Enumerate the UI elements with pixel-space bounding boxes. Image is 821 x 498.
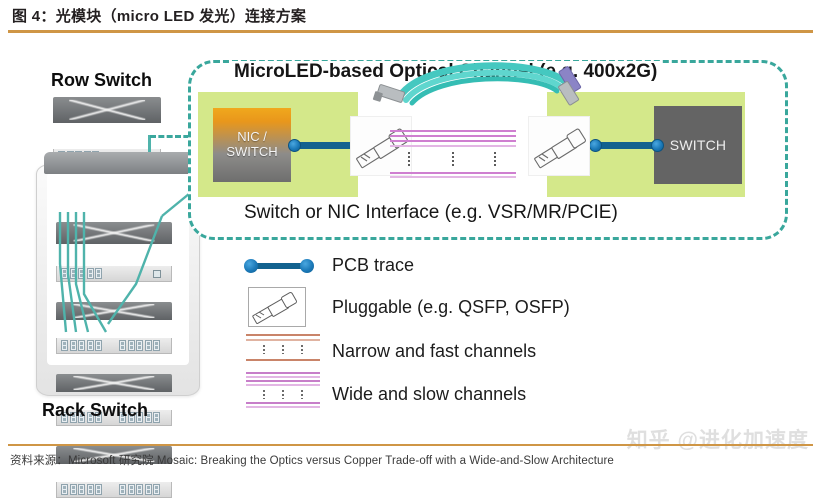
rack-switch-label: Rack Switch: [42, 400, 148, 421]
server-port-group-left: [61, 484, 102, 495]
switch-block: SWITCH: [654, 106, 742, 184]
page-title: 图 4：光模块（micro LED 发光）连接方案: [0, 5, 306, 26]
server-port-group-right: [119, 484, 160, 495]
legend-label: Pluggable (e.g. QSFP, OSFP): [332, 297, 570, 318]
wide-channel-line: [246, 384, 320, 386]
ellipsis-tick: [282, 390, 284, 399]
pcb-trace-swatch-endpoint: [244, 259, 258, 273]
wide-channel-line: [246, 376, 320, 378]
port: [153, 412, 160, 423]
wide-channel-ellipsis: [494, 152, 496, 168]
pcb-trace-endpoint: [589, 139, 602, 152]
legend-item-narrow-fast: Narrow and fast channels: [240, 330, 670, 372]
narrow-fast-swatch: [240, 330, 332, 372]
legend-item-wide-slow: Wide and slow channels: [240, 372, 670, 416]
pcb-trace-swatch: [240, 248, 332, 282]
wide-channel-ellipsis: [452, 152, 454, 168]
row-switch-top-shell: [53, 97, 161, 123]
pluggable-swatch-frame: [248, 287, 306, 327]
pcb-trace-right: [594, 142, 656, 149]
source-note: 资料来源：Microsoft 研究院 Mosaic: Breaking the …: [10, 452, 815, 468]
narrow-channel-ellipsis: [254, 345, 312, 354]
pluggable-module-right-icon: [529, 117, 590, 176]
wide-channel-line: [246, 372, 320, 374]
ellipsis-tick: [263, 345, 265, 354]
pcb-trace-endpoint: [288, 139, 301, 152]
pluggable-swatch: [240, 284, 332, 330]
legend-item-pluggable: Pluggable (e.g. QSFP, OSFP): [240, 284, 670, 330]
wide-slow-swatch: [240, 372, 332, 416]
legend-label: Narrow and fast channels: [332, 341, 536, 362]
aoc-fiber-cable: [372, 62, 592, 108]
aoc-connector-right: [558, 66, 581, 105]
narrow-channel-line: [246, 359, 320, 361]
nic-switch-block: NIC /SWITCH: [213, 108, 291, 182]
wide-channel-line: [246, 380, 320, 382]
row-switch-label: Row Switch: [44, 69, 159, 92]
optical-channel-subtitle: Switch or NIC Interface (e.g. VSR/MR/PCI…: [240, 202, 622, 224]
narrow-channel-line: [246, 334, 320, 336]
pluggable-swatch-icon: [249, 288, 305, 326]
ellipsis-tick: [282, 345, 284, 354]
legend-item-pcb-trace: PCB trace: [240, 246, 670, 284]
wide-channel-line: [246, 406, 320, 408]
narrow-channel-line: [246, 339, 320, 341]
port: [153, 484, 160, 495]
nic-switch-block-label: NIC /SWITCH: [226, 130, 277, 160]
wide-channel-line: [390, 145, 516, 147]
port: [87, 484, 94, 495]
port: [145, 484, 152, 495]
port: [95, 484, 102, 495]
pcb-trace-endpoint: [651, 139, 664, 152]
port: [78, 484, 85, 495]
ellipsis-tick: [301, 390, 303, 399]
wide-channel-ellipsis: [408, 152, 410, 168]
wide-channel-line: [390, 130, 516, 132]
switch-block-label: SWITCH: [670, 137, 726, 153]
aoc-connector-left: [373, 84, 405, 102]
pcb-trace-swatch-endpoint: [300, 259, 314, 273]
pcb-trace-left: [293, 142, 355, 149]
wide-channel-line: [390, 140, 516, 142]
header-divider: [8, 30, 813, 33]
wide-slow-swatch-lines: [246, 372, 320, 408]
wide-channel-line: [390, 135, 516, 137]
server-unit-panel: [56, 482, 172, 498]
pluggable-module-right: [528, 116, 590, 176]
figure-header: 图 4：光模块（micro LED 发光）连接方案: [0, 0, 821, 30]
footer-divider: [8, 444, 813, 446]
port: [128, 484, 135, 495]
legend-label: Wide and slow channels: [332, 384, 526, 405]
wide-channel-line: [390, 172, 516, 174]
wide-slow-channel-bundle: [390, 130, 516, 178]
port: [119, 484, 126, 495]
wide-channel-line: [246, 402, 320, 404]
ellipsis-tick: [263, 390, 265, 399]
narrow-fast-swatch-lines: [246, 332, 320, 364]
legend: PCB trace Pluggable (e.g. QS: [240, 246, 670, 416]
wide-channel-ellipsis: [254, 390, 312, 399]
wide-channel-line: [390, 176, 516, 178]
ellipsis-tick: [301, 345, 303, 354]
port: [61, 484, 68, 495]
port: [70, 484, 77, 495]
legend-label: PCB trace: [332, 255, 414, 276]
port: [136, 484, 143, 495]
diagram-canvas: Row Switch: [0, 34, 821, 442]
